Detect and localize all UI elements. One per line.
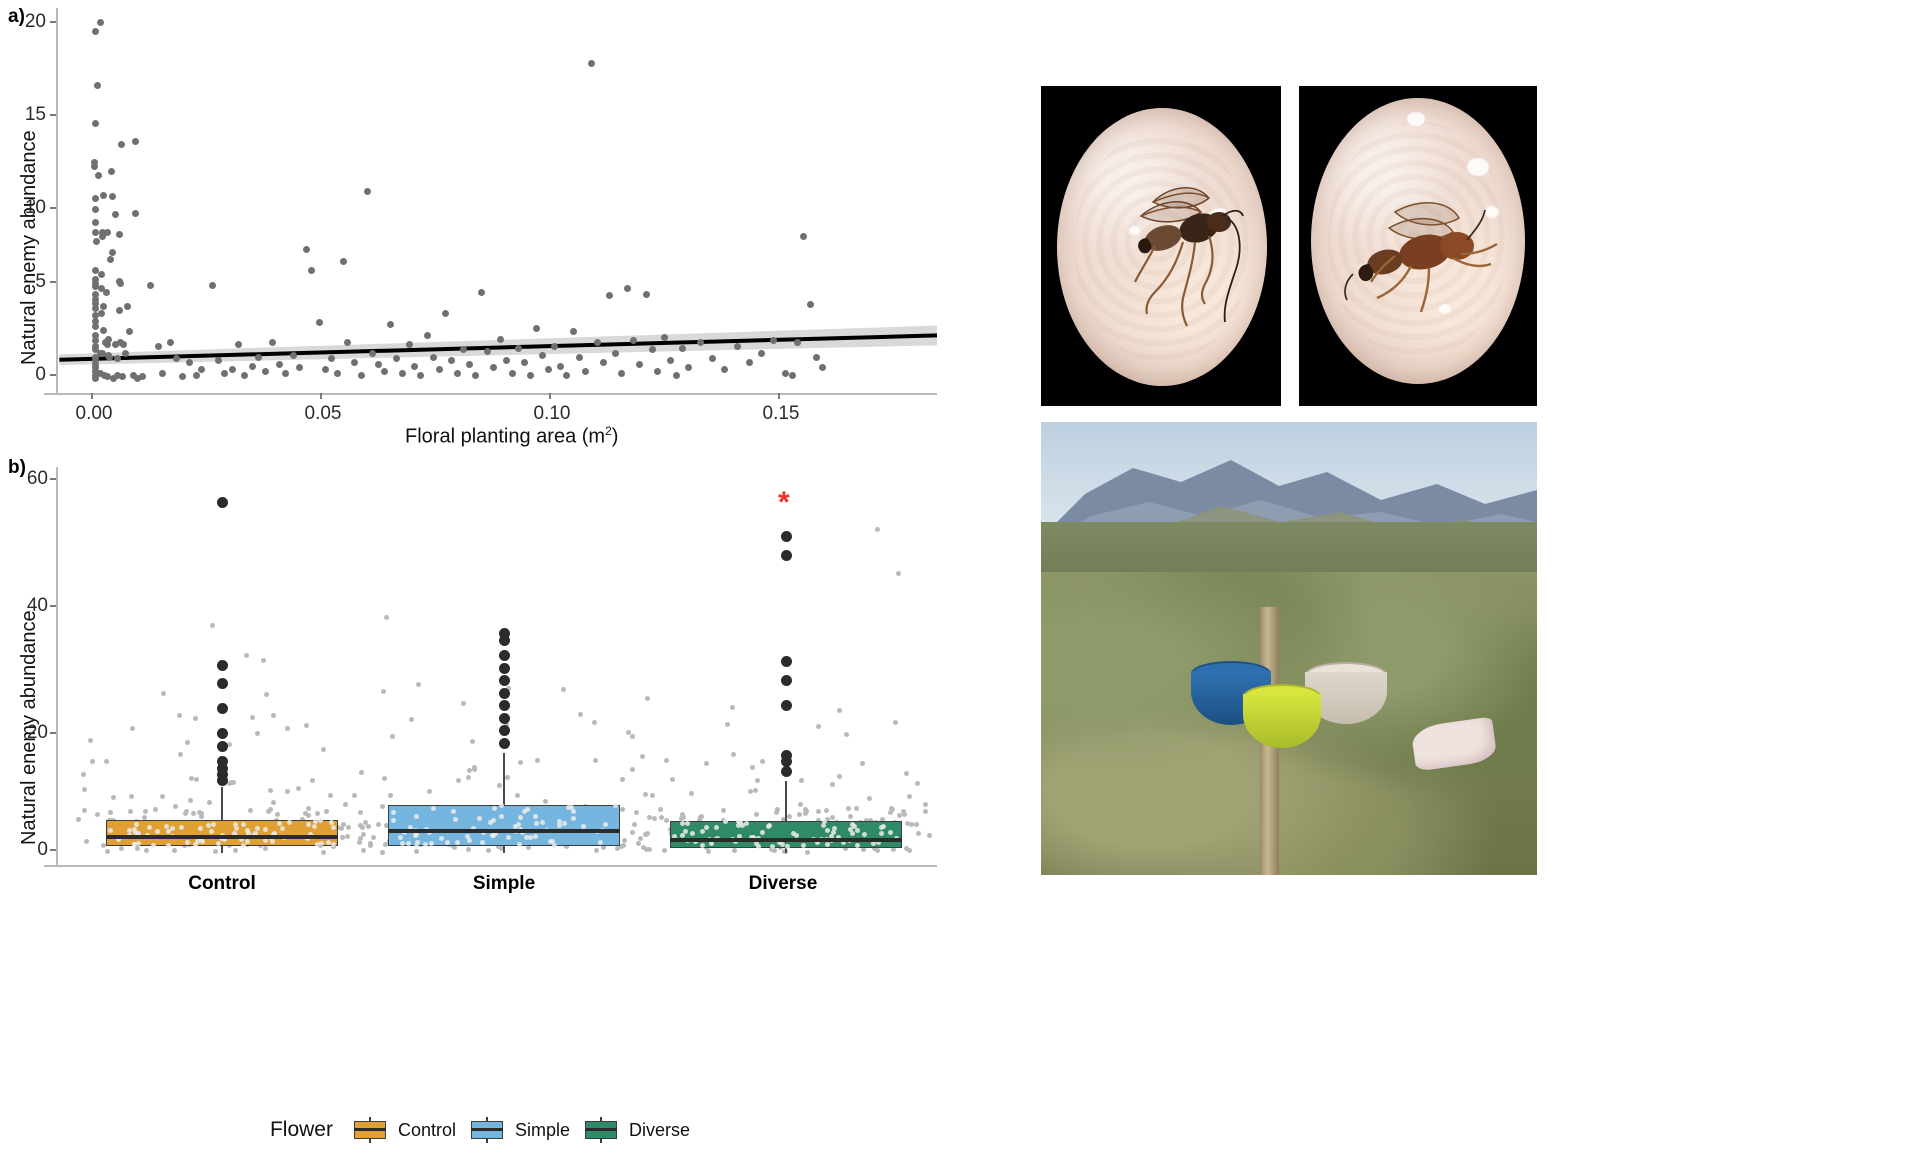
panel-a-scatter: a) Natural enemy abundance 20 15 10 5 0 … bbox=[0, 0, 960, 455]
jitter-point bbox=[506, 835, 511, 840]
scatter-point bbox=[114, 355, 121, 362]
jitter-point bbox=[346, 825, 351, 830]
scatter-point bbox=[322, 366, 329, 373]
boxplot-outlier bbox=[499, 635, 510, 646]
scatter-point bbox=[119, 373, 126, 380]
scatter-point bbox=[241, 372, 248, 379]
jitter-point bbox=[775, 807, 780, 812]
jitter-point bbox=[632, 822, 637, 827]
jitter-point bbox=[429, 841, 434, 846]
jitter-point bbox=[535, 758, 540, 763]
scatter-point bbox=[249, 363, 256, 370]
jitter-point bbox=[805, 850, 810, 855]
panel-a-y-tick-0: 0 bbox=[6, 364, 46, 386]
jitter-point bbox=[904, 846, 909, 851]
parasitoid-wasp-photo-right bbox=[1299, 86, 1537, 406]
jitter-point bbox=[376, 822, 381, 827]
pan-trap-field-photo bbox=[1041, 422, 1537, 875]
jitter-point bbox=[271, 800, 276, 805]
wasp-body-right bbox=[1333, 194, 1508, 334]
jitter-point bbox=[700, 843, 705, 848]
jitter-point bbox=[280, 826, 285, 831]
scatter-point bbox=[269, 339, 276, 346]
boxplot-outlier bbox=[499, 738, 510, 749]
jitter-point bbox=[185, 740, 190, 745]
scatter-point bbox=[582, 368, 589, 375]
scatter-point bbox=[221, 370, 228, 377]
scatter-point bbox=[340, 258, 347, 265]
legend-item-diverse[interactable]: Diverse bbox=[582, 1117, 690, 1143]
scatter-point bbox=[235, 341, 242, 348]
jitter-point bbox=[241, 843, 246, 848]
panel-a-y-tick-20: 20 bbox=[6, 11, 46, 33]
jitter-point bbox=[803, 811, 808, 816]
jitter-point bbox=[210, 623, 215, 628]
jitter-point bbox=[562, 821, 567, 826]
panel-a-x-axis-line bbox=[44, 393, 937, 395]
scatter-point bbox=[563, 372, 570, 379]
jitter-point bbox=[528, 835, 533, 840]
panel-a-x-tick-005: 0.05 bbox=[293, 403, 353, 425]
jitter-point bbox=[846, 806, 851, 811]
jitter-point bbox=[359, 770, 364, 775]
legend-label-diverse: Diverse bbox=[629, 1120, 690, 1141]
jitter-point bbox=[770, 844, 775, 849]
jitter-point bbox=[492, 806, 497, 811]
jitter-point bbox=[391, 810, 396, 815]
jitter-point bbox=[592, 720, 597, 725]
jitter-point bbox=[909, 822, 914, 827]
jitter-point bbox=[832, 826, 837, 831]
scatter-point bbox=[503, 357, 510, 364]
jitter-point bbox=[622, 838, 627, 843]
scatter-point bbox=[105, 336, 112, 343]
parasitoid-wasp-photo-left bbox=[1041, 86, 1281, 406]
jitter-point bbox=[497, 783, 502, 788]
boxplot-median-simple bbox=[388, 829, 620, 833]
scatter-point bbox=[673, 372, 680, 379]
jitter-point bbox=[466, 775, 471, 780]
boxplot-outlier bbox=[217, 678, 228, 689]
jitter-point bbox=[130, 726, 135, 731]
jitter-point bbox=[799, 778, 804, 783]
scatter-point bbox=[819, 364, 826, 371]
jitter-point bbox=[594, 848, 599, 853]
scatter-point bbox=[570, 328, 577, 335]
legend-whisker-bottom bbox=[486, 1138, 488, 1143]
jitter-point bbox=[486, 848, 491, 853]
jitter-point bbox=[270, 839, 275, 844]
jitter-point bbox=[706, 849, 711, 854]
scatter-point bbox=[97, 19, 104, 26]
boxplot-median-control bbox=[106, 835, 338, 839]
jitter-point bbox=[725, 722, 730, 727]
boxplot-whisker-lower bbox=[503, 846, 505, 852]
jitter-point bbox=[893, 720, 898, 725]
scatter-point bbox=[515, 345, 522, 352]
jitter-point bbox=[90, 759, 95, 764]
jitter-point bbox=[268, 788, 273, 793]
scatter-point bbox=[290, 352, 297, 359]
boxplot-outlier bbox=[499, 713, 510, 724]
jitter-point bbox=[754, 812, 759, 817]
jitter-point bbox=[304, 723, 309, 728]
jitter-point bbox=[285, 789, 290, 794]
jitter-point bbox=[658, 807, 663, 812]
panel-a-y-tickmark-10 bbox=[50, 207, 56, 209]
jitter-point bbox=[904, 771, 909, 776]
scatter-point bbox=[612, 350, 619, 357]
legend-key-simple-icon bbox=[468, 1117, 506, 1143]
jitter-point bbox=[339, 826, 344, 831]
jitter-point bbox=[250, 715, 255, 720]
scatter-point bbox=[600, 359, 607, 366]
jitter-point bbox=[854, 806, 859, 811]
jitter-point bbox=[830, 782, 835, 787]
boxplot-outlier bbox=[499, 688, 510, 699]
panel-a-y-tick-5: 5 bbox=[6, 271, 46, 293]
jitter-point bbox=[111, 795, 116, 800]
scatter-point bbox=[472, 372, 479, 379]
jitter-point bbox=[825, 842, 830, 847]
boxplot-outlier bbox=[499, 700, 510, 711]
jitter-point bbox=[927, 833, 932, 838]
jitter-point bbox=[916, 831, 921, 836]
jitter-point bbox=[285, 726, 290, 731]
panel-a-plot-area bbox=[57, 8, 937, 393]
jitter-point bbox=[194, 777, 199, 782]
jitter-point bbox=[816, 724, 821, 729]
jitter-point bbox=[867, 796, 872, 801]
jitter-point bbox=[785, 844, 790, 849]
jitter-point bbox=[366, 824, 371, 829]
jitter-point bbox=[798, 802, 803, 807]
jitter-point bbox=[147, 825, 152, 830]
jitter-point bbox=[340, 835, 345, 840]
scatter-point bbox=[303, 246, 310, 253]
boxplot-outlier bbox=[781, 675, 792, 686]
panel-b-y-tickmark-0 bbox=[50, 849, 56, 851]
panel-a-y-tick-15: 15 bbox=[6, 104, 46, 126]
scatter-point bbox=[399, 370, 406, 377]
jitter-point bbox=[81, 772, 86, 777]
jitter-point bbox=[855, 828, 860, 833]
jitter-point bbox=[277, 821, 282, 826]
jitter-point bbox=[557, 823, 562, 828]
jitter-point bbox=[914, 822, 919, 827]
scatter-point bbox=[643, 291, 650, 298]
jitter-point bbox=[264, 692, 269, 697]
boxplot-outlier bbox=[499, 650, 510, 661]
scatter-point bbox=[424, 332, 431, 339]
jitter-point bbox=[875, 527, 880, 532]
legend-key-control-icon bbox=[351, 1117, 389, 1143]
panel-b-plot-area: * bbox=[57, 465, 937, 865]
jitter-point bbox=[533, 814, 538, 819]
scatter-point bbox=[106, 354, 113, 361]
panel-a-x-axis-title-close: ) bbox=[612, 426, 619, 448]
jitter-point bbox=[161, 691, 166, 696]
jitter-point bbox=[825, 828, 830, 833]
legend: Flower Control Simple bbox=[0, 1105, 960, 1155]
jitter-point bbox=[244, 653, 249, 658]
jitter-point bbox=[721, 808, 726, 813]
jitter-point bbox=[613, 803, 618, 808]
jitter-point bbox=[837, 774, 842, 779]
scatter-point bbox=[103, 289, 110, 296]
panel-a-y-tickmark-0 bbox=[50, 374, 56, 376]
scatter-point bbox=[618, 370, 625, 377]
jitter-point bbox=[409, 717, 414, 722]
panel-a-x-axis-title-superscript: 2 bbox=[605, 424, 612, 438]
boxplot-outlier bbox=[217, 775, 228, 786]
jitter-point bbox=[640, 754, 645, 759]
jitter-point bbox=[515, 793, 520, 798]
jitter-point bbox=[275, 812, 280, 817]
scatter-point bbox=[789, 372, 796, 379]
jitter-point bbox=[151, 843, 156, 848]
panel-b-y-tickmark-20 bbox=[50, 732, 56, 734]
jitter-point bbox=[923, 809, 928, 814]
scatter-point bbox=[117, 280, 124, 287]
scatter-point bbox=[94, 82, 101, 89]
jitter-point bbox=[445, 840, 450, 845]
jitter-point bbox=[630, 767, 635, 772]
scatter-point bbox=[436, 366, 443, 373]
legend-label-simple: Simple bbox=[515, 1120, 570, 1141]
panel-a-x-axis-title: Floral planting area (m2) bbox=[405, 424, 618, 449]
scatter-point bbox=[557, 363, 564, 370]
jitter-point bbox=[390, 734, 395, 739]
jitter-point bbox=[82, 808, 87, 813]
jitter-point bbox=[129, 794, 134, 799]
jitter-point bbox=[352, 793, 357, 798]
jitter-point bbox=[543, 799, 548, 804]
jitter-point bbox=[416, 682, 421, 687]
jitter-point bbox=[135, 846, 140, 851]
jitter-point bbox=[650, 793, 655, 798]
boxplot-outlier bbox=[217, 728, 228, 739]
jitter-point bbox=[199, 811, 204, 816]
panel-a-x-tickmark-010 bbox=[549, 393, 551, 399]
scatter-point bbox=[92, 206, 99, 213]
boxplot-outlier bbox=[781, 766, 792, 777]
scatter-point bbox=[594, 339, 601, 346]
jitter-point bbox=[128, 809, 133, 814]
boxplot-outlier bbox=[217, 741, 228, 752]
boxplot-outlier bbox=[781, 550, 792, 561]
jitter-point bbox=[731, 752, 736, 757]
legend-title: Flower bbox=[270, 1118, 333, 1142]
jitter-point bbox=[451, 809, 456, 814]
panel-b-y-tick-60: 60 bbox=[4, 468, 48, 490]
jitter-point bbox=[360, 825, 365, 830]
jitter-point bbox=[296, 786, 301, 791]
panel-b-category-simple: Simple bbox=[424, 873, 584, 895]
scatter-point bbox=[159, 370, 166, 377]
jitter-point bbox=[801, 843, 806, 848]
scatter-point bbox=[466, 361, 473, 368]
scatter-point bbox=[636, 361, 643, 368]
jitter-point bbox=[736, 823, 741, 828]
jitter-point bbox=[689, 791, 694, 796]
jitter-point bbox=[915, 781, 920, 786]
jitter-point bbox=[245, 839, 250, 844]
jitter-point bbox=[505, 775, 510, 780]
legend-label-control: Control bbox=[398, 1120, 456, 1141]
scatter-point bbox=[667, 357, 674, 364]
scatter-point bbox=[132, 138, 139, 145]
scatter-point bbox=[661, 334, 668, 341]
jitter-point bbox=[414, 814, 419, 819]
jitter-point bbox=[923, 802, 928, 807]
jitter-point bbox=[620, 777, 625, 782]
jitter-point bbox=[891, 847, 896, 852]
jitter-point bbox=[415, 840, 420, 845]
scatter-point bbox=[92, 219, 99, 226]
jitter-point bbox=[888, 830, 893, 835]
jitter-point bbox=[664, 818, 669, 823]
scatter-point bbox=[92, 195, 99, 202]
panel-a-y-tick-10: 10 bbox=[6, 197, 46, 219]
jitter-point bbox=[767, 823, 772, 828]
jitter-point bbox=[178, 752, 183, 757]
jitter-point bbox=[662, 848, 667, 853]
panel-a-x-axis-title-main: Floral planting area (m bbox=[405, 426, 605, 448]
jitter-point bbox=[321, 850, 326, 855]
jitter-point bbox=[578, 712, 583, 717]
jitter-point bbox=[361, 848, 366, 853]
jitter-point bbox=[552, 843, 557, 848]
scatter-point bbox=[533, 325, 540, 332]
jitter-point bbox=[76, 817, 81, 822]
jitter-point bbox=[213, 849, 218, 854]
jitter-point bbox=[533, 834, 538, 839]
jitter-point bbox=[388, 793, 393, 798]
jitter-point bbox=[470, 739, 475, 744]
jitter-point bbox=[173, 804, 178, 809]
jitter-point bbox=[306, 822, 311, 827]
jitter-point bbox=[490, 833, 495, 838]
jitter-point bbox=[287, 820, 292, 825]
jitter-point bbox=[315, 811, 320, 816]
boxplot-outlier bbox=[217, 497, 228, 508]
jitter-point bbox=[185, 840, 190, 845]
jitter-point bbox=[153, 807, 158, 812]
scatter-point bbox=[527, 372, 534, 379]
scatter-point bbox=[406, 341, 413, 348]
legend-item-simple[interactable]: Simple bbox=[468, 1117, 570, 1143]
panel-b-y-tick-0: 0 bbox=[4, 839, 48, 861]
jitter-point bbox=[255, 731, 260, 736]
jitter-point bbox=[261, 658, 266, 663]
jitter-point bbox=[268, 807, 273, 812]
jitter-point bbox=[571, 809, 576, 814]
jitter-point bbox=[732, 848, 737, 853]
jitter-point bbox=[907, 794, 912, 799]
jitter-point bbox=[184, 809, 189, 814]
boxplot-whisker-upper bbox=[221, 787, 223, 820]
panel-a-x-tick-000: 0.00 bbox=[64, 403, 124, 425]
jitter-point bbox=[630, 734, 635, 739]
scatter-point bbox=[369, 350, 376, 357]
jitter-point bbox=[647, 847, 652, 852]
jitter-point bbox=[427, 789, 432, 794]
jitter-point bbox=[824, 808, 829, 813]
scatter-point bbox=[122, 350, 129, 357]
jitter-point bbox=[371, 835, 376, 840]
scatter-point bbox=[758, 350, 765, 357]
jitter-point bbox=[571, 816, 576, 821]
jitter-point bbox=[248, 808, 253, 813]
scatter-point bbox=[276, 361, 283, 368]
jitter-point bbox=[889, 806, 894, 811]
jitter-point bbox=[630, 830, 635, 835]
jitter-point bbox=[172, 848, 177, 853]
jitter-point bbox=[593, 758, 598, 763]
panel-a-x-tickmark-005 bbox=[320, 393, 322, 399]
jitter-point bbox=[312, 824, 317, 829]
jitter-point bbox=[787, 814, 792, 819]
jitter-point bbox=[896, 571, 901, 576]
jitter-point bbox=[88, 738, 93, 743]
scatter-point bbox=[679, 345, 686, 352]
boxplot-outlier bbox=[781, 700, 792, 711]
scatter-point bbox=[100, 327, 107, 334]
scatter-point bbox=[98, 271, 105, 278]
jitter-point bbox=[466, 847, 471, 852]
jitter-point bbox=[382, 776, 387, 781]
boxplot-whisker-lower bbox=[221, 846, 223, 852]
jitter-point bbox=[82, 787, 87, 792]
jitter-point bbox=[664, 758, 669, 763]
jitter-point bbox=[263, 846, 268, 851]
jitter-point bbox=[160, 794, 165, 799]
panel-a-x-tickmark-015 bbox=[778, 393, 780, 399]
water-droplet bbox=[1407, 112, 1425, 126]
scatter-point bbox=[147, 282, 154, 289]
panel-b-y-tickmark-60 bbox=[50, 478, 56, 480]
legend-whisker-bottom bbox=[369, 1138, 371, 1143]
jitter-point bbox=[698, 815, 703, 820]
jitter-point bbox=[797, 812, 802, 817]
jitter-point bbox=[780, 842, 785, 847]
panel-a-y-axis-title: Natural enemy abundance bbox=[18, 130, 41, 365]
scatter-point bbox=[813, 354, 820, 361]
jitter-point bbox=[105, 849, 110, 854]
jitter-point bbox=[456, 778, 461, 783]
jitter-point bbox=[108, 810, 113, 815]
jitter-point bbox=[166, 843, 171, 848]
jitter-point bbox=[95, 812, 100, 817]
legend-item-control[interactable]: Control bbox=[351, 1117, 456, 1143]
scatter-point bbox=[448, 357, 455, 364]
scatter-point bbox=[155, 343, 162, 350]
panel-b-y-tickmark-40 bbox=[50, 605, 56, 607]
scatter-point bbox=[381, 368, 388, 375]
scatter-point bbox=[92, 120, 99, 127]
boxplot-outlier bbox=[499, 663, 510, 674]
scatter-point bbox=[132, 210, 139, 217]
jitter-point bbox=[518, 760, 523, 765]
jitter-point bbox=[143, 809, 148, 814]
jitter-point bbox=[398, 835, 403, 840]
jitter-point bbox=[760, 759, 765, 764]
jitter-point bbox=[189, 776, 194, 781]
scatter-point bbox=[746, 359, 753, 366]
jitter-point bbox=[132, 842, 137, 847]
jitter-point bbox=[310, 778, 315, 783]
